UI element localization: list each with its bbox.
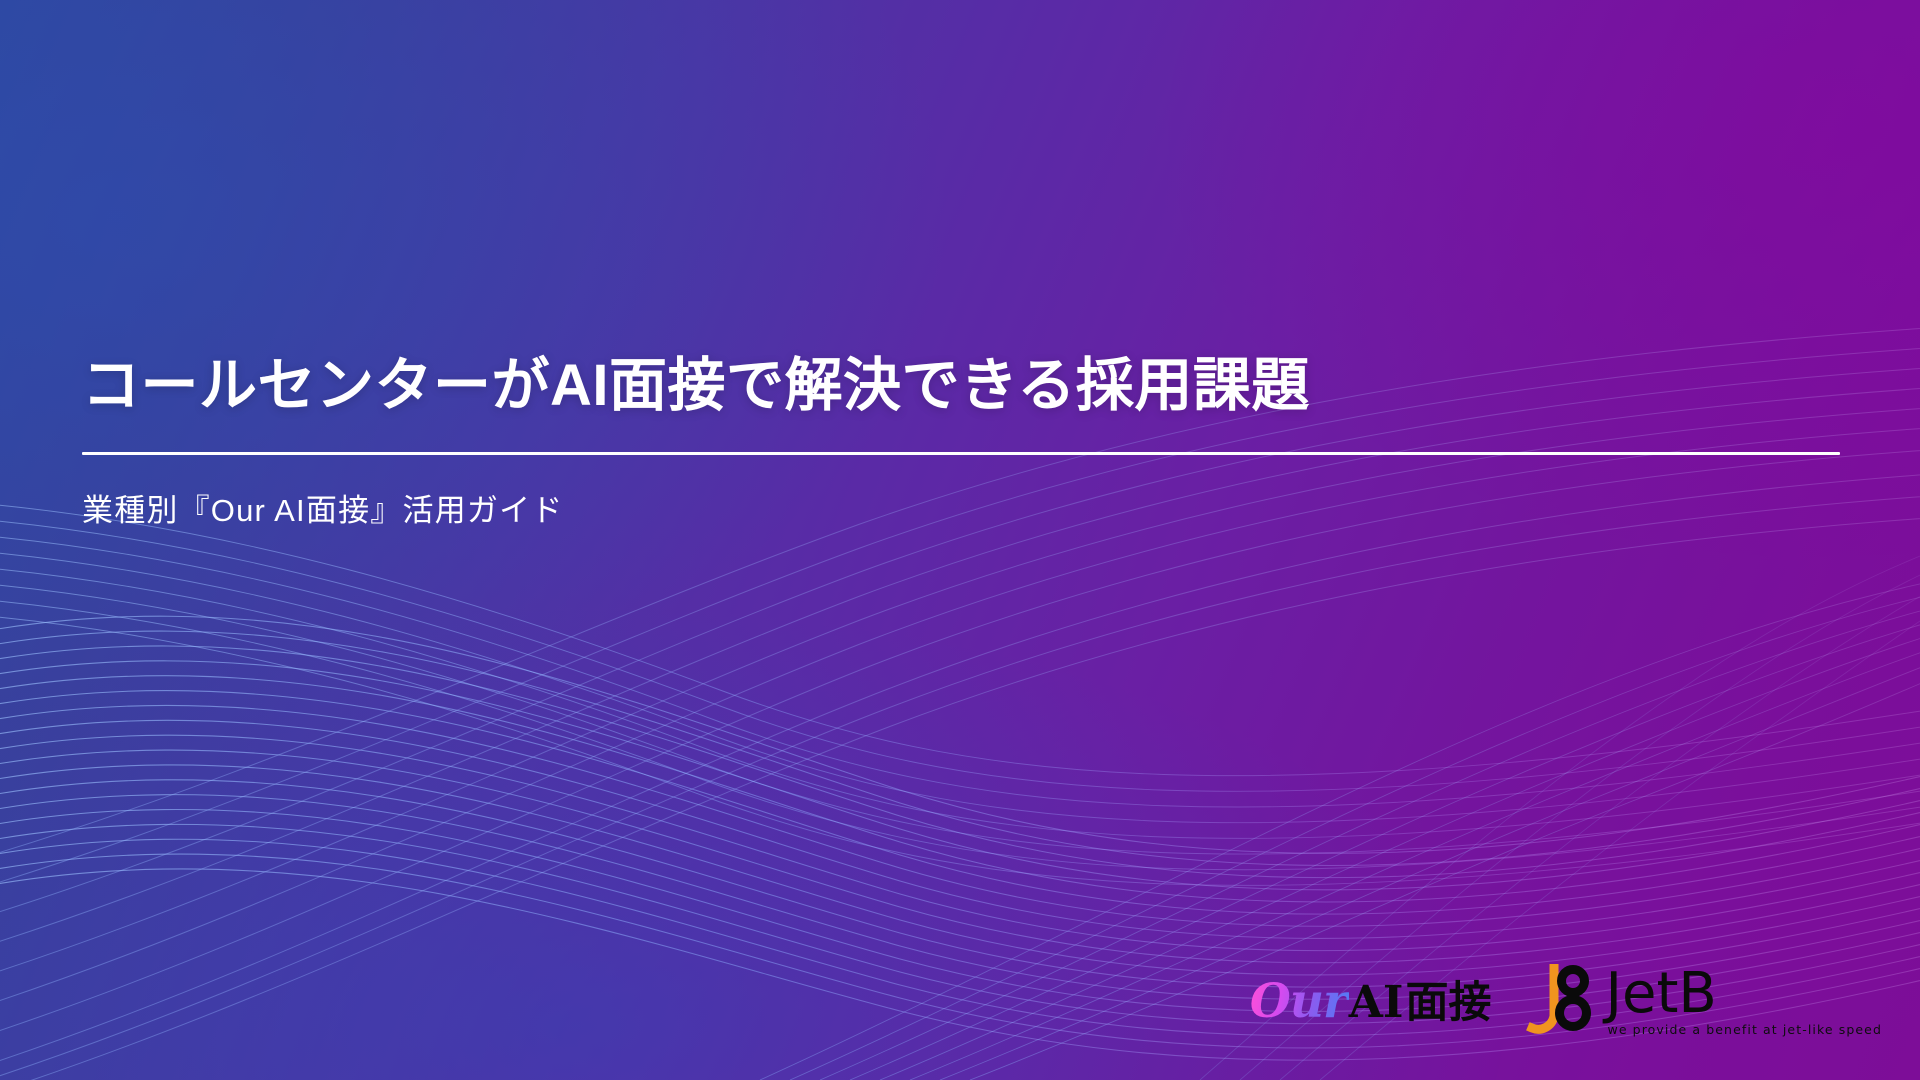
jetb-wordmark: JetB — [1606, 966, 1717, 1022]
title-divider — [82, 452, 1840, 455]
page-title: コールセンターがAI面接で解決できる採用課題 — [82, 352, 1842, 420]
background-tint-lower — [0, 0, 1920, 1080]
slide-content: コールセンターがAI面接で解決できる採用課題 業種別『Our AI面接』活用ガイ… — [82, 352, 1842, 532]
jetb-tagline: we provide a benefit at jet-like speed — [1608, 1024, 1883, 1037]
ourai-logo-our-text: Our — [1250, 978, 1349, 1025]
ourai-logo-ai-text: AI — [1349, 981, 1404, 1025]
jetb-company-logo: JetB we provide a benefit at jet-like sp… — [1526, 964, 1883, 1038]
page-subtitle: 業種別『Our AI面接』活用ガイド — [82, 491, 1842, 531]
wave-decoration — [0, 0, 1920, 1080]
title-slide: コールセンターがAI面接で解決できる採用課題 業種別『Our AI面接』活用ガイ… — [0, 0, 1920, 1080]
background-tint-blue — [0, 0, 1920, 1080]
background-tint-magenta — [0, 0, 1920, 1080]
jetb-mark-icon — [1526, 964, 1592, 1038]
logo-bar: Our AI 面接 JetB we provide a benefit at j… — [1250, 964, 1882, 1038]
jetb-text-block: JetB we provide a benefit at jet-like sp… — [1606, 966, 1883, 1037]
ourai-logo-mensetsu-text: 面接 — [1406, 982, 1492, 1025]
ourai-product-logo: Our AI 面接 — [1250, 978, 1492, 1025]
